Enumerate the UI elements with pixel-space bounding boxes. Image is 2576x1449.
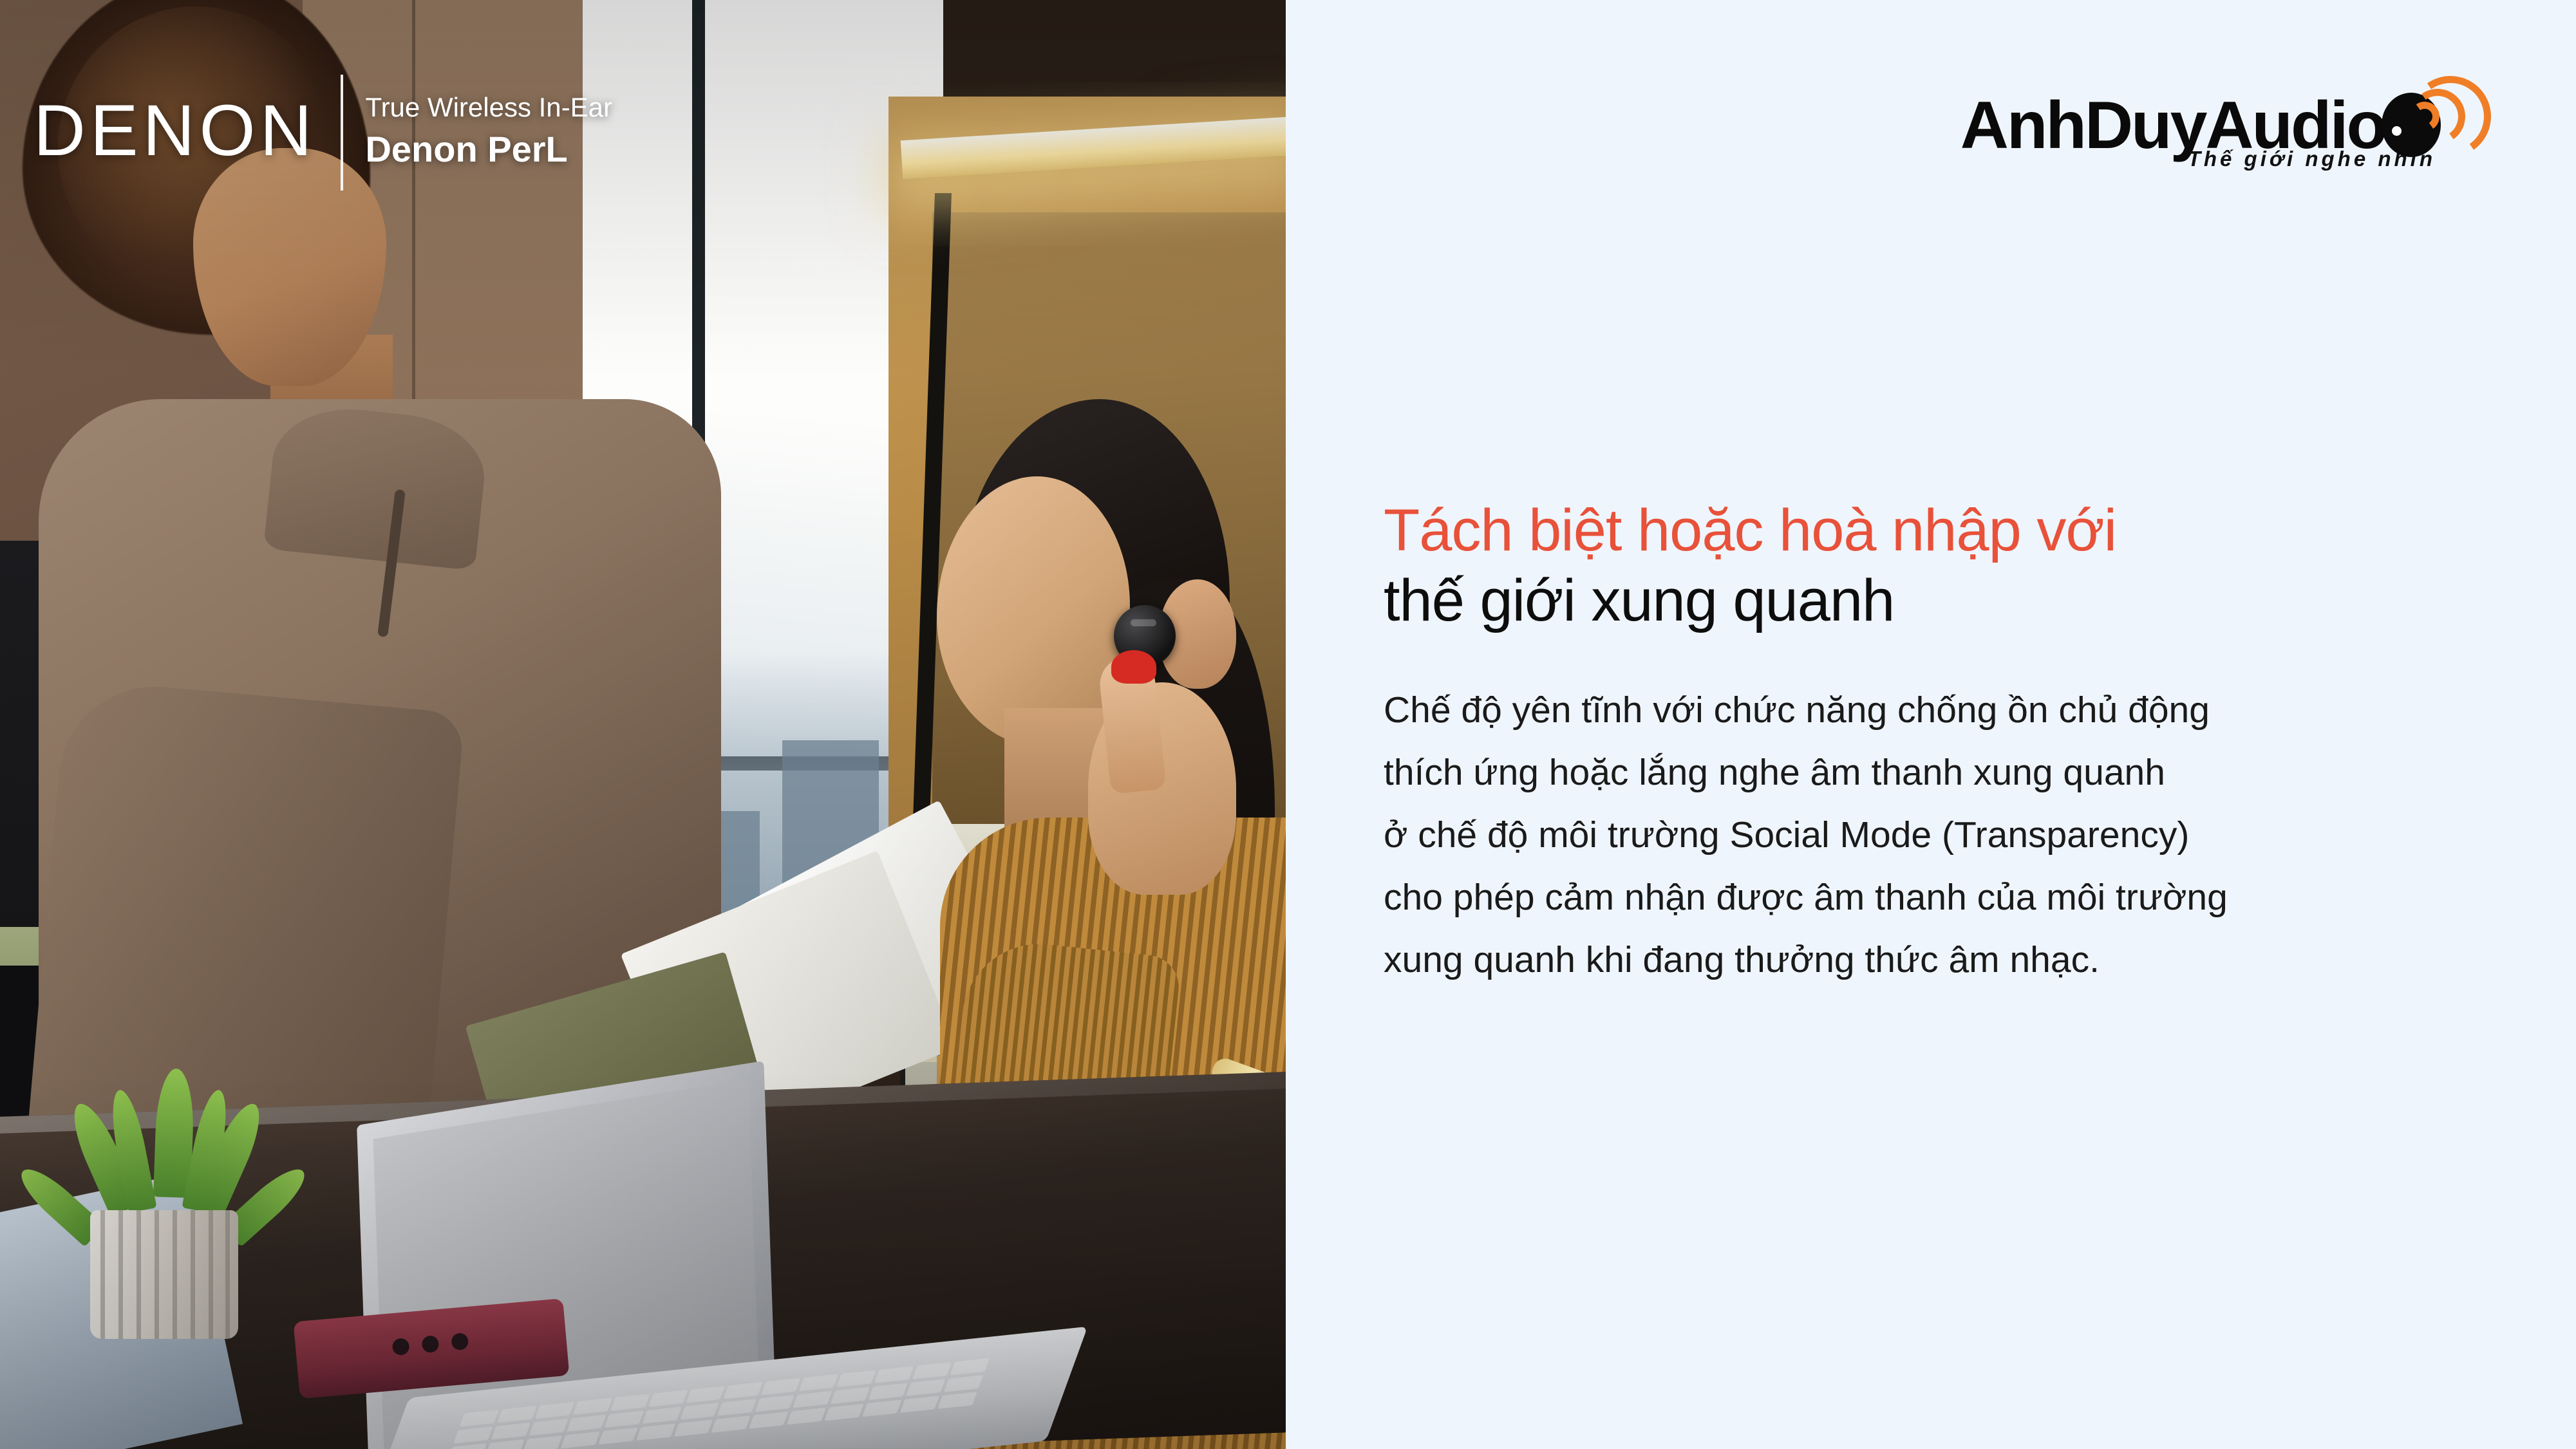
copy-block: Tách biệt hoặc hoà nhập với thế giới xun… [1384,496,2517,991]
product-category-label: True Wireless In-Ear [365,91,612,125]
content-panel: AnhDuyAudio Thế giới nghe nhìn Tách biệt… [1286,0,2576,1449]
promo-slide: DENON True Wireless In-Ear Denon PerL An… [0,0,2576,1449]
anhduyaudio-logo[interactable]: AnhDuyAudio Thế giới nghe nhìn [1998,81,2461,171]
headline-line-accent: Tách biệt hoặc hoà nhập với [1384,496,2517,566]
body-line: xung quanh khi đang thưởng thức âm nhạc. [1384,929,2517,991]
body-line: thích ứng hoặc lắng nghe âm thanh xung q… [1384,742,2517,804]
speaker-signal-icon [2376,81,2461,157]
body-paragraph: Chế độ yên tĩnh với chức năng chống ồn c… [1384,679,2517,991]
denon-wordmark: DENON [33,95,316,167]
product-model-name: Denon PerL [365,127,612,171]
plant-pot [90,1210,238,1339]
body-line: cho phép cảm nhận được âm thanh của môi … [1384,866,2517,929]
lockup-divider [341,75,343,191]
fingernail-red [1111,650,1156,684]
body-line: Chế độ yên tĩnh với chức năng chống ồn c… [1384,679,2517,742]
headline-line-dark: thế giới xung quanh [1384,566,2517,636]
body-line: ở chế độ môi trường Social Mode (Transpa… [1384,804,2517,866]
woman-face [937,476,1130,747]
page-title: Tách biệt hoặc hoà nhập với thế giới xun… [1384,496,2517,635]
lifestyle-photo: DENON True Wireless In-Ear Denon PerL [0,0,1286,1449]
denon-brand-lockup: DENON True Wireless In-Ear Denon PerL [33,71,612,191]
